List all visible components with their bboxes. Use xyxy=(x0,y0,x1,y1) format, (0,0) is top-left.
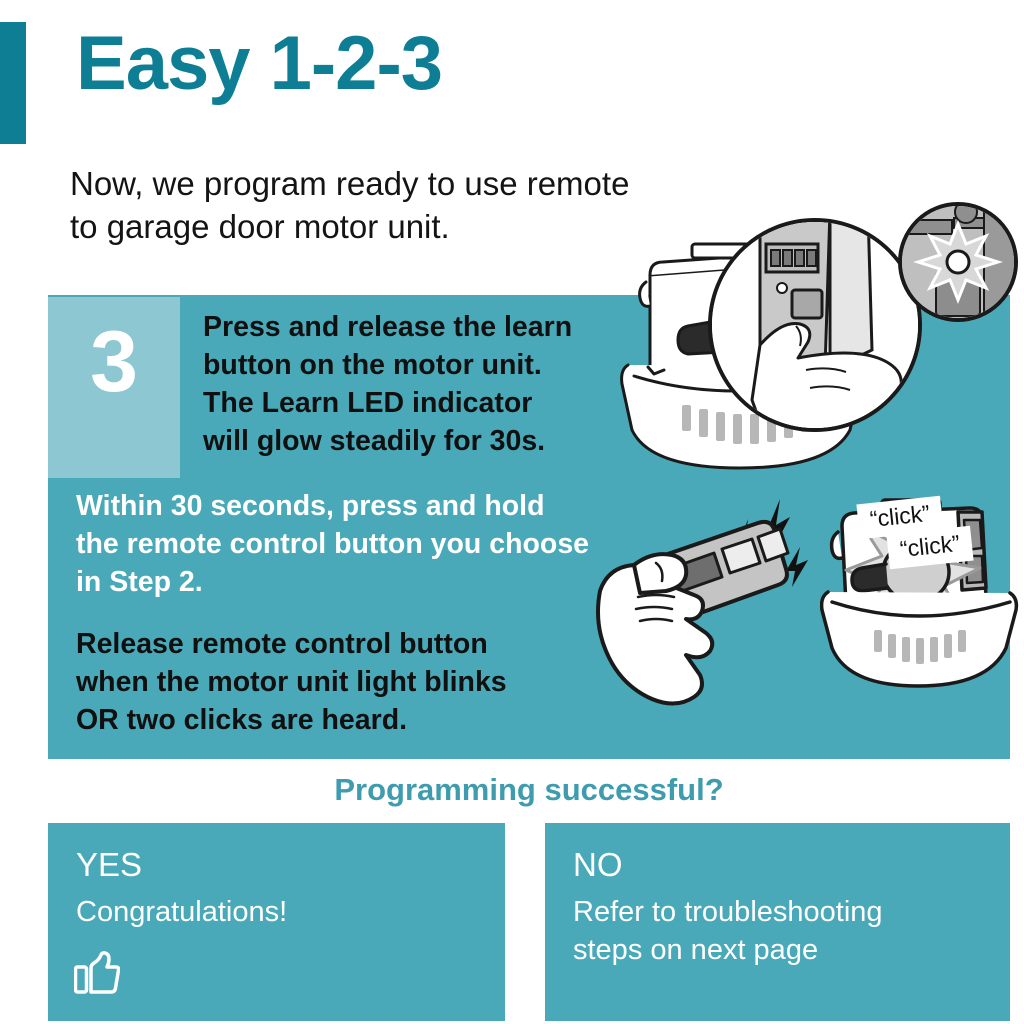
step-instruction-line-1: Press and release the learn xyxy=(203,309,633,347)
release-button-line-3: OR two clicks are heard. xyxy=(76,701,676,739)
release-button-line-1: Release remote control button xyxy=(76,625,676,663)
infographic-page: Easy 1-2-3 Now, we program ready to use … xyxy=(0,0,1024,1024)
thumbs-up-icon xyxy=(74,951,120,995)
hand-holding-remote-illustration xyxy=(590,485,840,715)
outcome-no-body: Refer to troubleshooting steps on next p… xyxy=(573,893,973,970)
outcome-yes-body: Congratulations! xyxy=(76,893,476,931)
outcome-yes-line-1: Congratulations! xyxy=(76,893,476,931)
motor-unit-learn-button-illustration xyxy=(610,200,1020,470)
led-glow-callout xyxy=(900,201,1016,320)
outcome-no-line-1: Refer to troubleshooting xyxy=(573,893,973,931)
step-number: 3 xyxy=(48,319,180,405)
step-instruction-line-4: will glow steadily for 30s. xyxy=(203,423,633,461)
step-instruction-text: Press and release the learn button on th… xyxy=(203,309,633,461)
page-title: Easy 1-2-3 xyxy=(76,26,442,102)
title-accent-bar xyxy=(0,22,26,144)
outcome-box-no[interactable]: NO Refer to troubleshooting steps on nex… xyxy=(545,823,1010,1021)
outcome-box-yes[interactable]: YES Congratulations! xyxy=(48,823,505,1021)
release-button-line-2: when the motor unit light blinks xyxy=(76,663,676,701)
step-instruction-line-3: The Learn LED indicator xyxy=(203,385,633,423)
programming-result-question: Programming successful? xyxy=(48,772,1010,808)
outcome-no-title: NO xyxy=(573,848,623,881)
outcome-yes-title: YES xyxy=(76,848,142,881)
outcome-no-line-2: steps on next page xyxy=(573,931,973,969)
release-button-paragraph: Release remote control button when the m… xyxy=(76,625,676,740)
step-instruction-line-2: button on the motor unit. xyxy=(203,347,633,385)
